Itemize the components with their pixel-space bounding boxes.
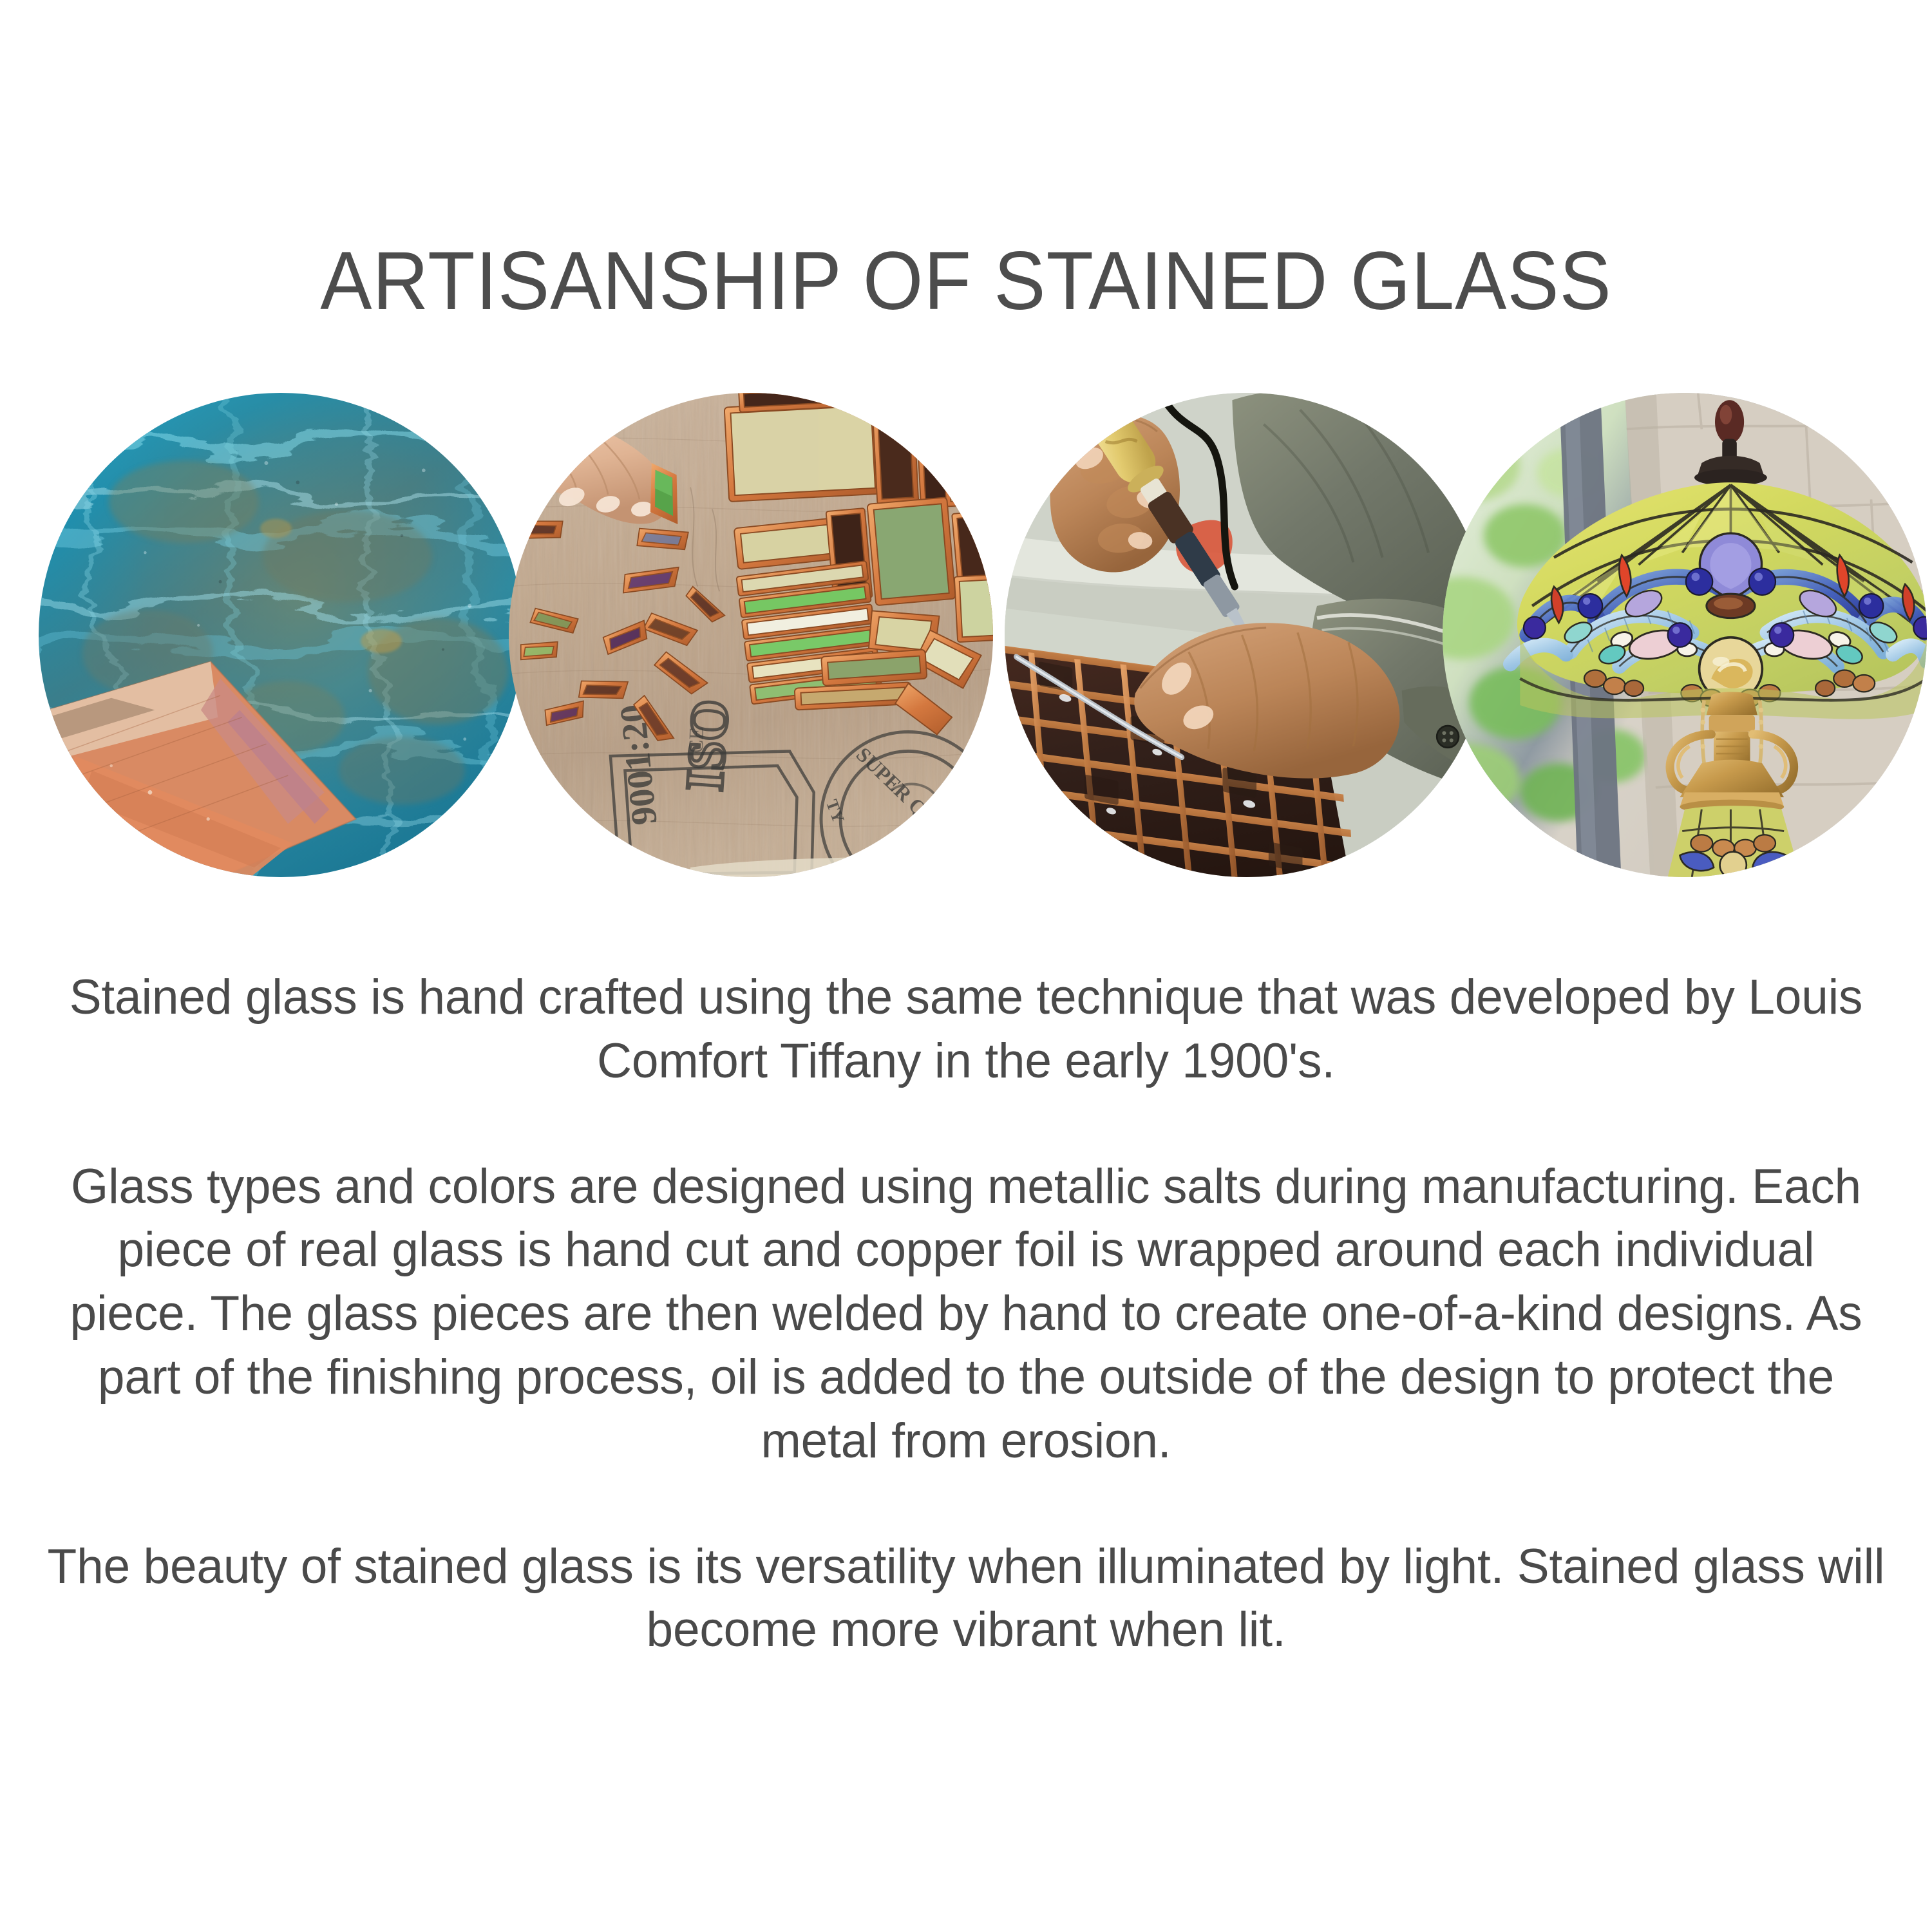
soldering-art: [1005, 393, 1489, 877]
image-gallery: 9001:20 ISO CE SUPER QU TY: [0, 393, 1932, 882]
page-title: ARTISANSHIP OF STAINED GLASS: [58, 238, 1874, 325]
body-copy: Stained glass is hand crafted using the …: [0, 966, 1932, 1662]
paragraph-1: Stained glass is hand crafted using the …: [43, 966, 1889, 1094]
glass-sheet-art: [39, 393, 523, 877]
gallery-image-foiling-workbench: 9001:20 ISO CE SUPER QU TY: [509, 393, 993, 877]
paragraph-3: The beauty of stained glass is its versa…: [43, 1535, 1889, 1663]
gallery-image-finished-lamp: [1443, 393, 1927, 877]
infographic-page: ARTISANSHIP OF STAINED GLASS: [0, 0, 1932, 1932]
foiling-workbench-art: 9001:20 ISO CE SUPER QU TY: [509, 393, 993, 877]
stamp-cert-mark: CE: [685, 726, 708, 753]
paragraph-2: Glass types and colors are designed usin…: [43, 1155, 1889, 1473]
gallery-image-glass-sheet: [39, 393, 523, 877]
finished-lamp-art: [1443, 393, 1927, 877]
gallery-image-soldering: [1005, 393, 1489, 877]
